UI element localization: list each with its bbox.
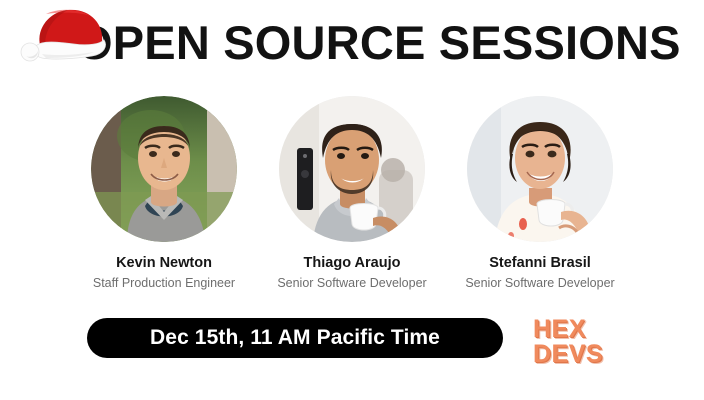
event-poster: OPEN SOURCE SESSIONS [0, 0, 704, 400]
avatar [279, 96, 425, 242]
speaker-name: Kevin Newton [116, 254, 212, 272]
logo-line-hex: HEX [533, 317, 586, 342]
title-row: OPEN SOURCE SESSIONS [0, 14, 704, 76]
speaker-name: Thiago Araujo [304, 254, 401, 272]
speaker-role: Senior Software Developer [277, 275, 426, 291]
speaker-card: Thiago Araujo Senior Software Developer [279, 96, 425, 291]
logo-line-devs: DEVS [533, 342, 603, 367]
speaker-role: Staff Production Engineer [93, 275, 235, 291]
page-title: OPEN SOURCE SESSIONS [76, 14, 681, 72]
speaker-card: Kevin Newton Staff Production Engineer [91, 96, 237, 291]
hexdevs-logo: HEX DEVS [533, 314, 623, 370]
date-banner: Dec 15th, 11 AM Pacific Time [87, 318, 503, 358]
avatar [467, 96, 613, 242]
speakers-row: Kevin Newton Staff Production Engineer [0, 96, 704, 291]
date-banner-text: Dec 15th, 11 AM Pacific Time [150, 326, 440, 350]
speaker-name: Stefanni Brasil [489, 254, 591, 272]
avatar [91, 96, 237, 242]
speaker-card: Stefanni Brasil Senior Software Develope… [467, 96, 613, 291]
speaker-role: Senior Software Developer [465, 275, 614, 291]
